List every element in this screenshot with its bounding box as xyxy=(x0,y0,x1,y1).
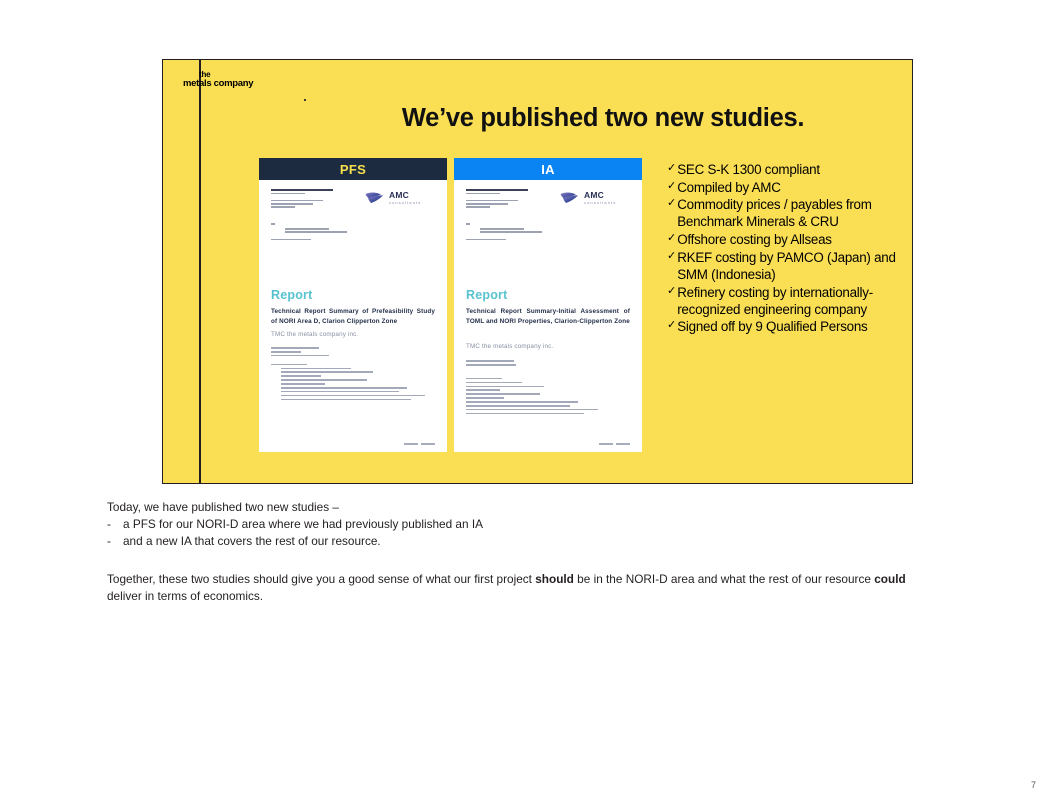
notes-paragraph-part2: be in the NORI-D area and what the rest … xyxy=(574,572,874,586)
slide-vertical-rule xyxy=(199,60,201,483)
checklist-item: ✓ Compiled by AMC xyxy=(667,179,907,196)
amc-logo: AMC consultants xyxy=(365,189,435,209)
check-icon: ✓ xyxy=(667,179,676,195)
document-cover-ia: AMC consultants Report Technical Report … xyxy=(454,180,642,452)
document-cover-pfs: AMC consultants Report Technical Report … xyxy=(259,180,447,452)
checklist-item-label: Offshore costing by Allseas xyxy=(677,231,907,248)
document-card-ia[interactable]: IA xyxy=(454,158,642,452)
amc-logo-subtitle: consultants xyxy=(584,200,616,205)
checklist-item-label: Signed off by 9 Qualified Persons xyxy=(677,318,907,335)
speaker-notes: Today, we have published two new studies… xyxy=(107,499,937,605)
document-subtitle-pfs: TMC the metals company inc. xyxy=(271,331,435,338)
check-icon: ✓ xyxy=(667,196,676,212)
checklist: ✓ SEC S-K 1300 compliant ✓ Compiled by A… xyxy=(667,161,907,336)
notes-bullet-marker: - xyxy=(107,533,123,550)
checklist-item-label: SEC S-K 1300 compliant xyxy=(677,161,907,178)
checklist-item: ✓ Commodity prices / payables from Bench… xyxy=(667,196,907,230)
amc-contact-block xyxy=(271,189,345,240)
document-subtitle-ia: TMC the metals company inc. xyxy=(466,343,630,350)
checklist-item: ✓ RKEF costing by PAMCO (Japan) and SMM … xyxy=(667,249,907,283)
logo-line-metals-company: metals company xyxy=(183,79,253,89)
amc-logo-text: AMC xyxy=(584,190,604,200)
notes-bullet-label: and a new IA that covers the rest of our… xyxy=(123,533,381,550)
document-footer xyxy=(404,443,435,445)
checklist-item-label: Refinery costing by internationally-reco… xyxy=(677,284,907,318)
checklist-item: ✓ Offshore costing by Allseas xyxy=(667,231,907,248)
amc-logo: AMC consultants xyxy=(560,189,630,209)
document-title-ia: Technical Report Summary-Initial Assessm… xyxy=(466,307,630,327)
notes-paragraph-part3: deliver in terms of economics. xyxy=(107,589,263,603)
check-icon: ✓ xyxy=(667,231,676,247)
notes-bullet-marker: - xyxy=(107,516,123,533)
amc-wing-icon xyxy=(560,191,580,204)
amc-logo-text: AMC xyxy=(389,190,409,200)
checklist-item-label: RKEF costing by PAMCO (Japan) and SMM (I… xyxy=(677,249,907,283)
document-meta-block xyxy=(271,347,429,402)
notes-paragraph-bold-could: could xyxy=(874,572,905,586)
amc-contact-block xyxy=(466,189,540,240)
page-number: 7 xyxy=(1031,780,1036,790)
checklist-item-label: Compiled by AMC xyxy=(677,179,907,196)
check-icon: ✓ xyxy=(667,161,676,177)
document-title-pfs: Technical Report Summary of Prefeasibili… xyxy=(271,307,435,327)
amc-logo-subtitle: consultants xyxy=(389,200,421,205)
checklist-item: ✓ Refinery costing by internationally-re… xyxy=(667,284,907,318)
document-tab-ia: IA xyxy=(454,158,642,180)
notes-bullet: - and a new IA that covers the rest of o… xyxy=(107,533,937,550)
document-meta-block xyxy=(466,360,624,417)
document-tab-pfs: PFS xyxy=(259,158,447,180)
check-icon: ✓ xyxy=(667,318,676,334)
document-footer xyxy=(599,443,630,445)
notes-bullet: - a PFS for our NORI-D area where we had… xyxy=(107,516,937,533)
notes-paragraph-part1: Together, these two studies should give … xyxy=(107,572,535,586)
slide-title: We’ve published two new studies. xyxy=(313,104,893,133)
notes-bullet-label: a PFS for our NORI-D area where we had p… xyxy=(123,516,483,533)
slide-canvas: the metals company We’ve published two n… xyxy=(162,59,913,484)
dot-artifact xyxy=(304,99,306,101)
checklist-item: ✓ Signed off by 9 Qualified Persons xyxy=(667,318,907,335)
document-card-pfs[interactable]: PFS xyxy=(259,158,447,452)
notes-intro: Today, we have published two new studies… xyxy=(107,499,937,516)
checklist-item: ✓ SEC S-K 1300 compliant xyxy=(667,161,907,178)
checklist-item-label: Commodity prices / payables from Benchma… xyxy=(677,196,907,230)
the-metals-company-logo: the metals company xyxy=(178,71,258,97)
notes-paragraph-bold-should: should xyxy=(535,572,574,586)
amc-wing-icon xyxy=(365,191,385,204)
notes-paragraph: Together, these two studies should give … xyxy=(107,571,937,605)
check-icon: ✓ xyxy=(667,284,676,300)
check-icon: ✓ xyxy=(667,249,676,265)
document-report-heading: Report xyxy=(271,288,312,302)
document-report-heading: Report xyxy=(466,288,507,302)
